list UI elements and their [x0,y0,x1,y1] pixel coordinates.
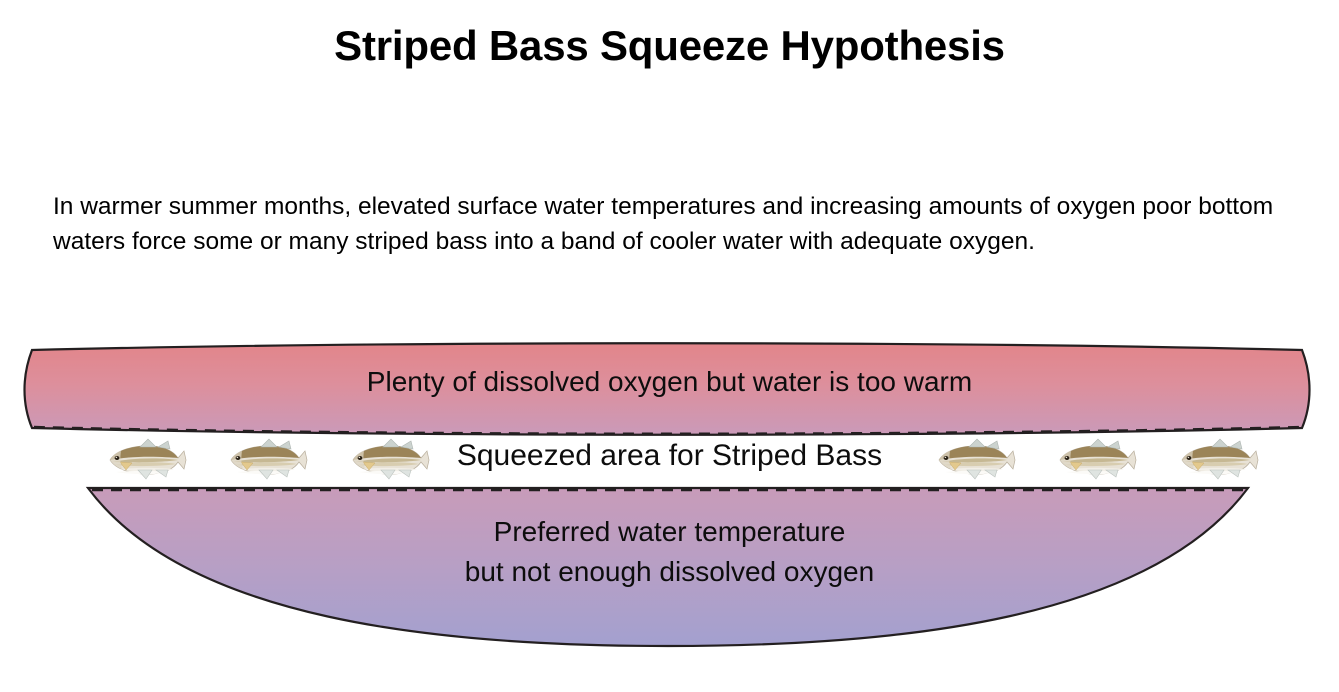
bottom-layer-label-line2: but not enough dissolved oxygen [0,552,1339,592]
striped-bass-icon [1046,436,1141,482]
fish-group-right [925,436,1263,482]
bottom-layer-label-line1: Preferred water temperature [0,512,1339,552]
squeeze-diagram: Plenty of dissolved oxygen but water is … [0,330,1339,660]
page-title: Striped Bass Squeeze Hypothesis [0,22,1339,70]
striped-bass-icon [925,436,1020,482]
bottom-layer-label: Preferred water temperature but not enou… [0,512,1339,592]
striped-bass-icon [1168,436,1263,482]
intro-paragraph: In warmer summer months, elevated surfac… [53,190,1293,260]
top-layer-label: Plenty of dissolved oxygen but water is … [0,365,1339,399]
